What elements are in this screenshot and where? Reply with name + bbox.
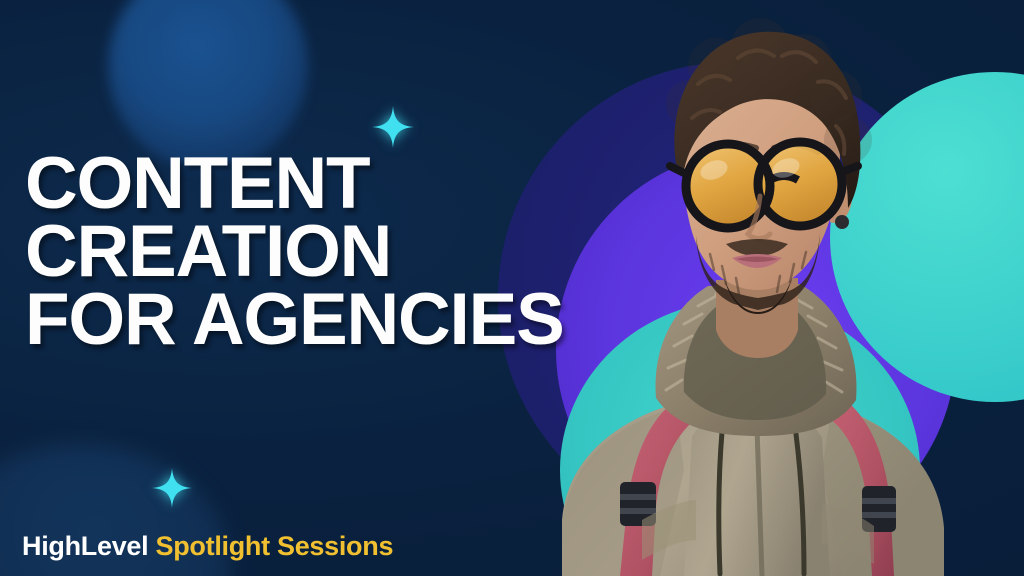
- brand-name: HighLevel: [22, 531, 148, 561]
- glasses-temple-right: [842, 166, 858, 172]
- strap-buckle-detail: [620, 508, 656, 514]
- strap-buckle-detail: [862, 498, 896, 504]
- headline-line-1: CONTENT: [25, 150, 645, 218]
- video-thumbnail: CONTENT CREATION FOR AGENCIES HighLevel …: [0, 0, 1024, 576]
- brand-lockup: HighLevel Spotlight Sessions: [22, 531, 393, 562]
- strap-buckle-detail: [620, 494, 656, 500]
- headline-line-3: FOR AGENCIES: [25, 286, 645, 354]
- brand-series-name: Spotlight Sessions: [156, 531, 394, 561]
- glasses-icon: [670, 142, 858, 228]
- earring: [835, 215, 849, 229]
- headline: CONTENT CREATION FOR AGENCIES: [25, 150, 645, 354]
- strap-buckle-detail: [862, 512, 896, 518]
- headline-line-2: CREATION: [25, 218, 645, 286]
